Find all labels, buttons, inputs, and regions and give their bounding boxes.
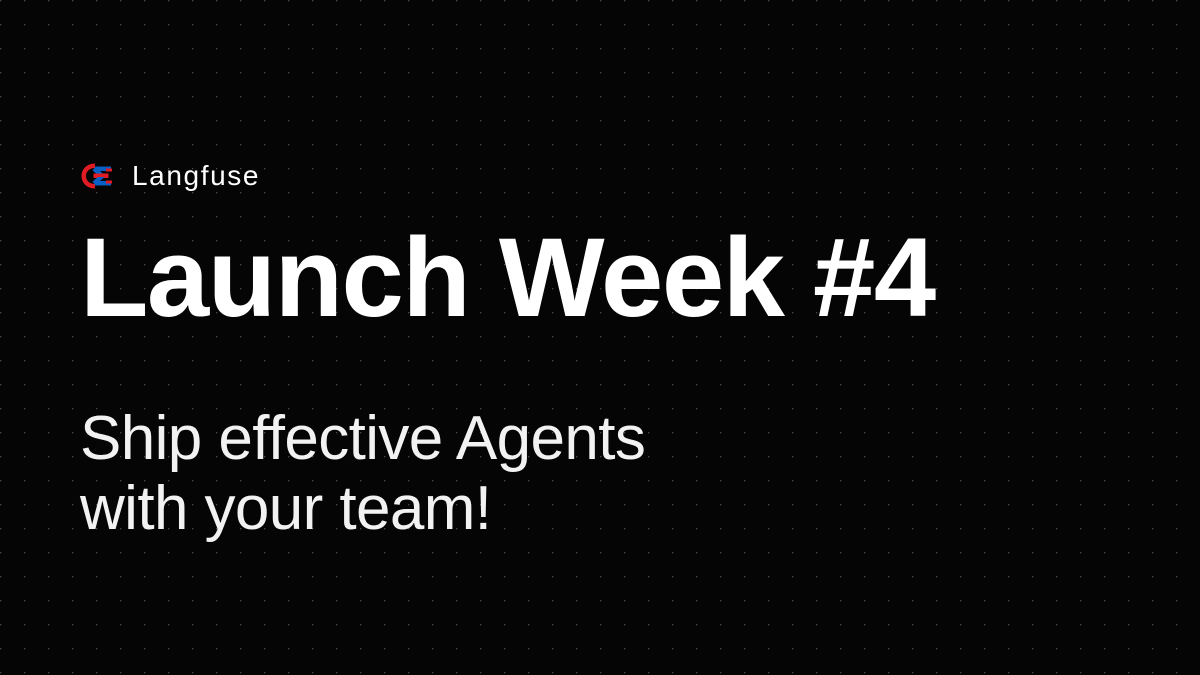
- page-subtitle-line-2: with your team!: [80, 474, 645, 544]
- langfuse-logo-icon: [80, 162, 114, 190]
- page-subtitle-line-1: Ship effective Agents: [80, 404, 645, 474]
- launch-week-banner: Langfuse Launch Week #4 Ship effective A…: [0, 0, 1200, 675]
- page-subtitle: Ship effective Agents with your team!: [80, 404, 645, 544]
- page-title: Launch Week #4: [80, 222, 935, 334]
- brand-lockup: Langfuse: [80, 156, 260, 196]
- brand-name: Langfuse: [132, 162, 260, 190]
